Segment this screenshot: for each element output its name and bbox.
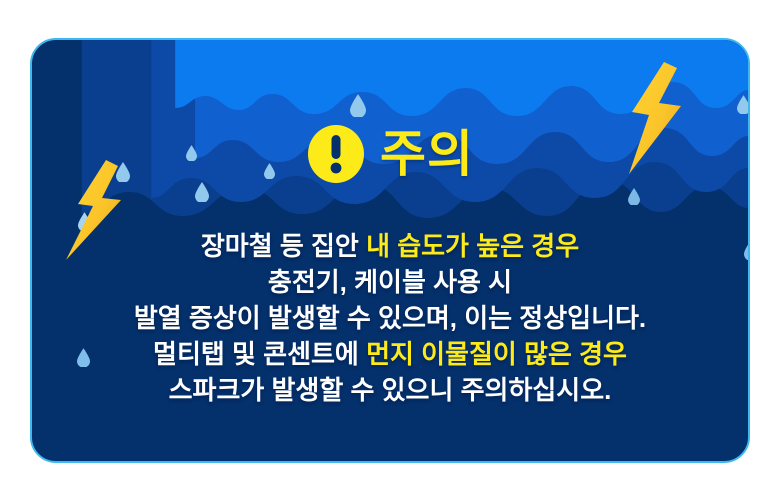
message-line-4-highlight: 먼지 이물질이 많은 경우 — [366, 339, 627, 369]
message-line-4: 멀티탭 및 콘센트에 먼지 이물질이 많은 경우 — [32, 336, 748, 372]
message-line-2: 충전기, 케이블 사용 시 — [32, 264, 748, 300]
page-title: 주의 — [380, 129, 474, 179]
exclamation-warning-icon — [306, 124, 366, 184]
raindrop-8 — [628, 188, 640, 205]
message-line-3: 발열 증상이 발생할 수 있으며, 이는 정상입니다. — [32, 300, 748, 336]
message-line-2-plain: 충전기, 케이블 사용 시 — [268, 267, 512, 297]
warning-message-block: 장마철 등 집안 내 습도가 높은 경우 충전기, 케이블 사용 시 발열 증상… — [32, 228, 748, 408]
raindrop-3 — [195, 182, 209, 202]
raindrop-7 — [737, 95, 750, 114]
raindrop-6 — [350, 94, 366, 117]
title-row: 주의 — [32, 124, 748, 184]
message-line-3-plain: 발열 증상이 발생할 수 있으며, 이는 정상입니다. — [134, 303, 646, 333]
message-line-1-plain: 장마철 등 집안 — [201, 231, 366, 261]
poster-stage: 주의 장마철 등 집안 내 습도가 높은 경우 충전기, 케이블 사용 시 발열… — [0, 0, 780, 500]
message-line-5-plain: 스파크가 발생할 수 있으니 주의하십시오. — [169, 375, 612, 405]
message-line-1: 장마철 등 집안 내 습도가 높은 경우 — [32, 228, 748, 264]
message-line-4-plain: 멀티탭 및 콘센트에 — [153, 339, 366, 369]
message-line-1-highlight: 내 습도가 높은 경우 — [366, 231, 579, 261]
message-line-5: 스파크가 발생할 수 있으니 주의하십시오. — [32, 372, 748, 408]
raindrop-11 — [748, 376, 750, 401]
warning-card: 주의 장마철 등 집안 내 습도가 높은 경우 충전기, 케이블 사용 시 발열… — [30, 38, 750, 463]
